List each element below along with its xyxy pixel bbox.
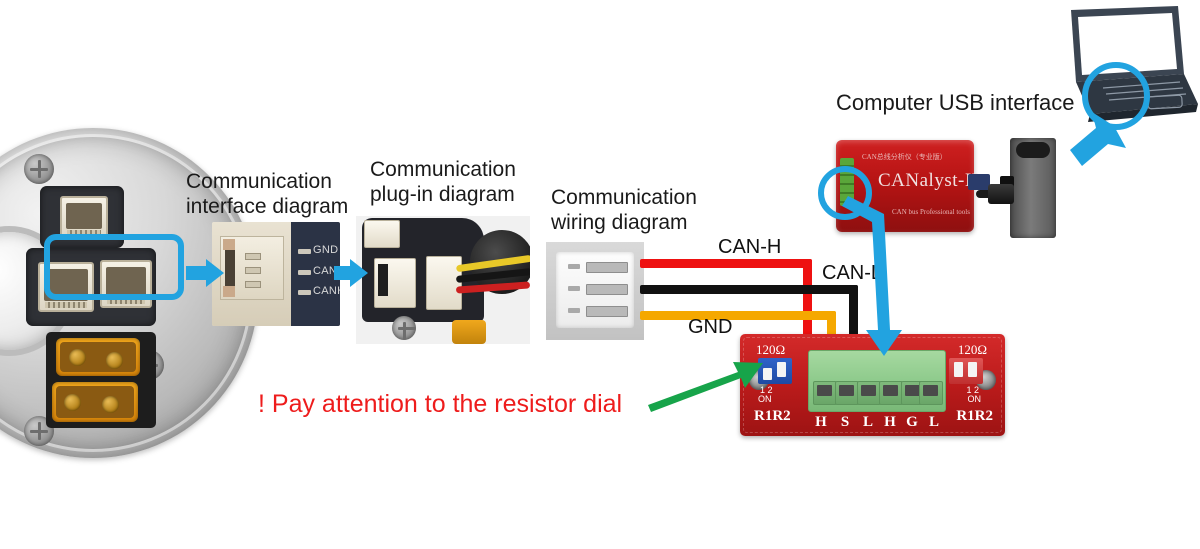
- connector-pin: [245, 253, 261, 260]
- computer-usb-label: Computer USB interface: [836, 90, 1074, 116]
- motor-connector-highlight: [44, 234, 184, 300]
- laptop-usb-highlight: [1082, 62, 1150, 130]
- xt-pin: [64, 394, 81, 411]
- canalyst-brand: CANalyst-II: [878, 170, 978, 192]
- left-resistor-value: 120Ω: [756, 342, 785, 358]
- terminal-cell-h1[interactable]: [813, 381, 837, 405]
- terminal-cell-l1[interactable]: [857, 381, 881, 405]
- crimp-bar: [586, 262, 628, 273]
- terminal-label-1: S: [834, 414, 856, 431]
- pin-label-gnd: GND: [313, 244, 338, 256]
- wiring-diagram-label: Communication wiring diagram: [551, 186, 736, 236]
- canalyst-usb-socket: [968, 174, 990, 190]
- body-corner: [223, 286, 235, 297]
- connector-slot: [225, 249, 235, 287]
- crimp-tail: [568, 264, 580, 269]
- laptop-usb-port: [1010, 138, 1056, 238]
- pin-label-canl: CANL: [313, 265, 340, 277]
- plug-connector-top: [364, 220, 400, 248]
- right-resistor-value: 120Ω: [958, 342, 987, 358]
- right-dip-channel-label: R1R2: [956, 408, 993, 425]
- connector-shell: [556, 252, 634, 328]
- terminal-label-2: L: [857, 414, 879, 431]
- dip-switch-1[interactable]: [954, 362, 963, 377]
- terminal-label-5: L: [923, 414, 945, 431]
- plug-screw: [392, 316, 416, 340]
- green-terminal-block[interactable]: [808, 350, 946, 412]
- dip-switch-2[interactable]: [777, 362, 786, 377]
- crimp-bar: [586, 284, 628, 295]
- terminal-label-4: G: [901, 414, 923, 431]
- terminal-screw: [883, 385, 898, 396]
- xt-pin: [106, 352, 123, 369]
- crimp-tail: [568, 286, 580, 291]
- xt-connector-lower: [52, 382, 138, 422]
- left-dip-on-label: ON: [758, 394, 772, 404]
- wire-label-can-l: CAN-L: [822, 262, 882, 285]
- port-cap: [1016, 142, 1050, 158]
- jst-pins: [45, 302, 87, 308]
- can-terminal-board: 120Ω 1 2 ON R1R2 H S L H G L 120Ω 1 2: [740, 334, 1005, 436]
- terminal-label-3: H: [879, 414, 901, 431]
- jst-slot: [66, 203, 102, 229]
- pin-tab: [298, 270, 311, 275]
- canalyst-top-text: CAN总线分析仪（专业版）: [862, 152, 947, 162]
- right-dip-switch[interactable]: [949, 358, 983, 384]
- connector-pin: [245, 281, 261, 288]
- pigtail-yellow: [640, 311, 676, 320]
- terminal-cell-s[interactable]: [835, 381, 859, 405]
- dip-switch-1[interactable]: [763, 368, 772, 380]
- xt-pin: [69, 349, 86, 366]
- wire-label-gnd: GND: [688, 316, 732, 339]
- communication-plugin-photo: [356, 216, 530, 344]
- terminal-cell-h2[interactable]: [879, 381, 903, 405]
- terminal-label-0: H: [810, 414, 832, 431]
- diagram-canvas: Communication interface diagram GND CANL…: [0, 0, 1200, 549]
- plug-slot: [378, 264, 388, 296]
- dip-switch-2[interactable]: [968, 362, 977, 377]
- crimp-bar: [586, 306, 628, 317]
- plug-xt-connector: [452, 320, 486, 344]
- terminal-screw: [817, 385, 832, 396]
- interface-diagram-label: Communication interface diagram: [186, 170, 361, 220]
- crimp-tail: [568, 308, 580, 313]
- wire-can-l-horizontal: [672, 285, 858, 294]
- connector-pin: [245, 267, 261, 274]
- power-connector-block: [46, 332, 156, 428]
- canalyst-bottom-text: CAN bus Professional tools: [892, 208, 970, 216]
- usb-connector-head: [988, 184, 1014, 204]
- terminal-screw: [923, 385, 938, 396]
- canalyst-port-highlight: [818, 166, 872, 220]
- body-corner: [223, 239, 235, 250]
- terminal-cell-l2[interactable]: [919, 381, 943, 405]
- wire-label-can-h: CAN-H: [718, 236, 781, 259]
- pigtail-black: [640, 285, 676, 294]
- wiring-connector-photo: [546, 242, 644, 340]
- plugin-diagram-label: Communication plug-in diagram: [370, 158, 550, 208]
- wire-can-h-horizontal: [672, 259, 812, 268]
- xt-connector-upper: [56, 338, 140, 376]
- motor-screw: [24, 154, 54, 184]
- plug-connector-right: [426, 256, 462, 310]
- terminal-screw: [905, 385, 920, 396]
- terminal-screw: [839, 385, 854, 396]
- terminal-screw: [861, 385, 876, 396]
- interface-connector-body: [220, 236, 284, 300]
- pin-tab: [298, 249, 311, 254]
- communication-interface-photo: GND CANL CANH: [212, 222, 340, 326]
- pin-tab: [298, 290, 311, 295]
- left-dip-switch[interactable]: [758, 358, 792, 384]
- xt-pin: [102, 396, 119, 413]
- pigtail-red: [640, 259, 676, 268]
- right-dip-on-label: ON: [968, 394, 982, 404]
- left-dip-channel-label: R1R2: [754, 408, 791, 425]
- resistor-dial-warning: ! Pay attention to the resistor dial: [258, 390, 622, 419]
- pin-label-canh: CANH: [313, 285, 340, 297]
